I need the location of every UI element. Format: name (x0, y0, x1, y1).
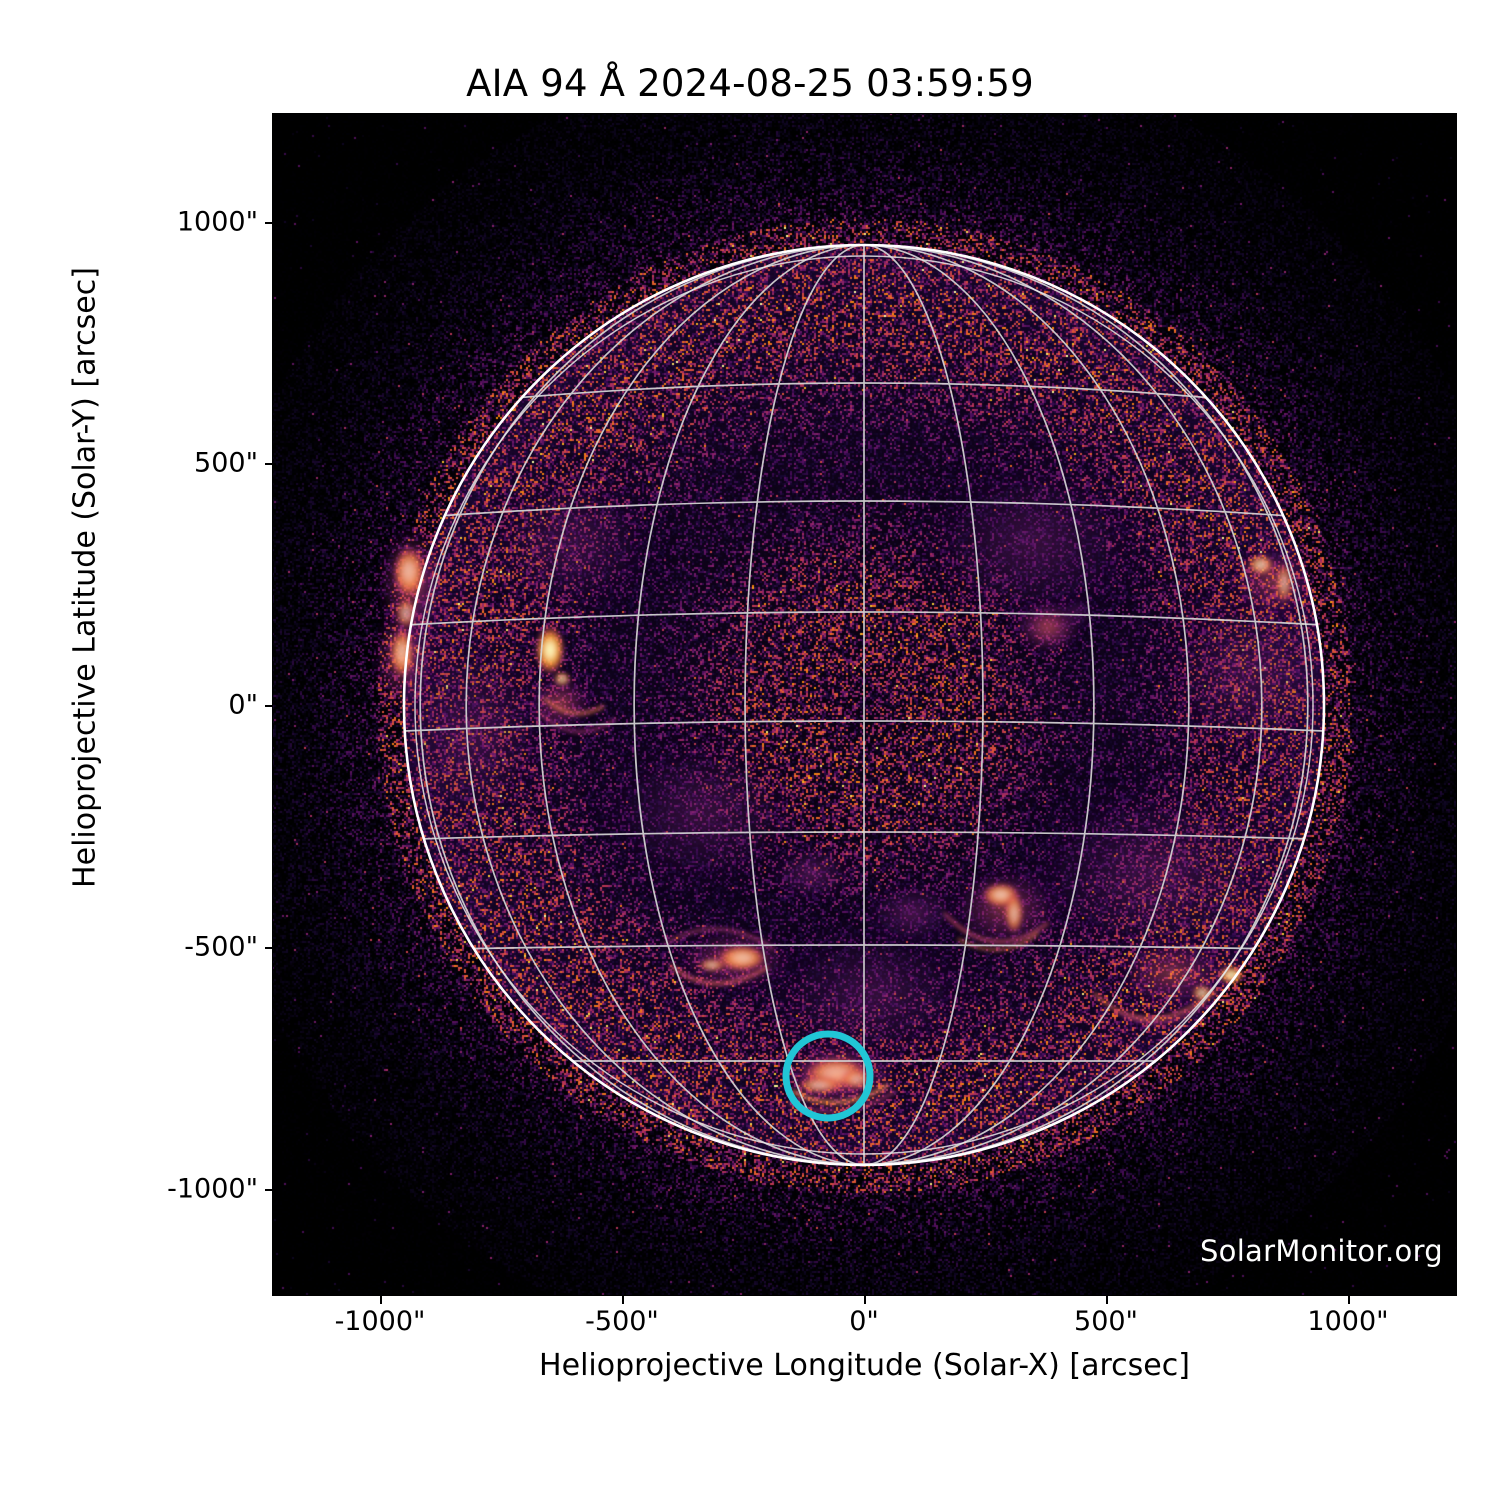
solar-image-figure: AIA 94 Å 2024-08-25 03:59:59 (0, 0, 1500, 1500)
y-tick-m1000: -1000" (167, 1174, 258, 1205)
x-tick-m500: -500" (585, 1306, 659, 1337)
y-tick-500: 500" (194, 448, 258, 479)
page-title: AIA 94 Å 2024-08-25 03:59:59 (0, 62, 1500, 105)
x-tick-0: 0" (849, 1306, 879, 1337)
y-axis-label: Helioprojective Latitude (Solar-Y) [arcs… (68, 128, 103, 1028)
y-tick-m500: -500" (184, 932, 258, 963)
x-tick-1000: 1000" (1307, 1306, 1388, 1337)
solar-disk (272, 113, 1457, 1296)
x-tick-500: 500" (1074, 1306, 1138, 1337)
plot-area[interactable]: SolarMonitor.org (272, 113, 1457, 1296)
watermark: SolarMonitor.org (1200, 1234, 1443, 1268)
y-tick-1000: 1000" (177, 207, 258, 238)
y-tick-0: 0" (228, 690, 258, 721)
x-tick-m1000: -1000" (335, 1306, 426, 1337)
x-axis-label: Helioprojective Longitude (Solar-X) [arc… (272, 1348, 1457, 1383)
